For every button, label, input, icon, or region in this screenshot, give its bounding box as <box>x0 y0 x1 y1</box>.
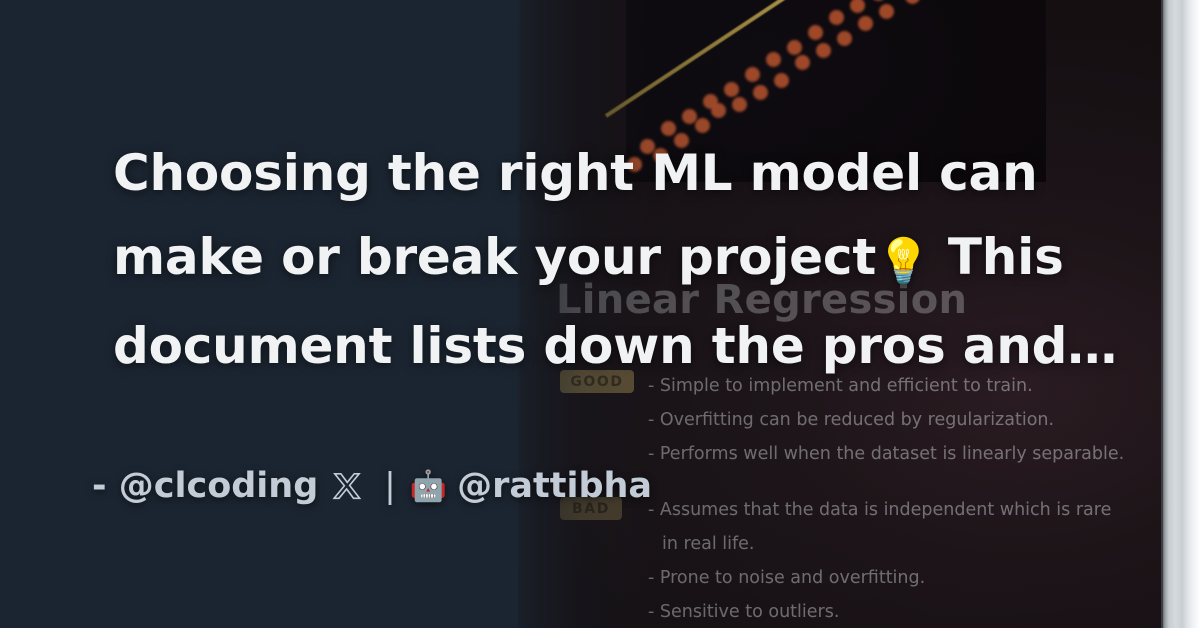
scatter-dot <box>871 0 886 1</box>
scatter-dot <box>745 67 760 82</box>
headline-line-3: document lists down the pros and… <box>113 304 1113 388</box>
social-share-card: Linear Regression GOOD BAD - Simple to i… <box>0 0 1200 628</box>
scatter-dot <box>774 73 789 88</box>
attribution-separator: | <box>384 466 395 506</box>
attribution-handle-primary[interactable]: @clcoding <box>119 466 319 506</box>
list-item: - Prone to noise and overfitting. <box>648 561 1163 595</box>
scatter-dot <box>787 40 802 55</box>
light-bulb-icon: 💡 <box>876 236 931 287</box>
scatter-dot <box>905 0 920 4</box>
scatter-dot <box>816 43 831 58</box>
headline-line-2-text: make or break your project <box>113 228 876 286</box>
scatter-dot <box>850 0 865 13</box>
robot-icon: 🤖 <box>410 469 447 504</box>
scatter-dot <box>829 10 844 25</box>
attribution-dash: - <box>92 466 107 506</box>
list-item: - Performs well when the dataset is line… <box>648 437 1163 471</box>
list-item: - Overfitting can be reduced by regulari… <box>648 403 1163 437</box>
scatter-dot <box>795 55 810 70</box>
scatter-dot <box>753 85 768 100</box>
x-logo-icon[interactable] <box>332 471 362 501</box>
headline-line-2-tail: This <box>948 228 1064 286</box>
scatter-dot <box>879 4 894 19</box>
bad-bullet-list: - Assumes that the data is independent w… <box>648 493 1163 628</box>
page-edge-strip <box>1163 0 1200 628</box>
scatter-dot <box>837 31 852 46</box>
headline-line-2: make or break your project💡 This <box>113 215 1113 304</box>
scatter-dot <box>711 103 726 118</box>
headline-line-1: Choosing the right ML model can <box>113 131 1113 215</box>
list-item: - Assumes that the data is independent w… <box>648 493 1163 527</box>
scatter-dot <box>732 97 747 112</box>
scatter-dot <box>724 82 739 97</box>
regression-trend-line <box>605 0 1041 118</box>
attribution-handle-secondary[interactable]: @rattibha <box>457 466 652 506</box>
attribution: - @clcoding | 🤖 @rattibha <box>92 466 652 506</box>
list-item: in real life. <box>648 527 1163 561</box>
scatter-dot <box>858 16 873 31</box>
scatter-dot <box>766 52 781 67</box>
page-title: Choosing the right ML model can make or … <box>113 131 1113 388</box>
list-item: - Sensitive to outliers. <box>648 595 1163 628</box>
scatter-dot <box>808 25 823 40</box>
